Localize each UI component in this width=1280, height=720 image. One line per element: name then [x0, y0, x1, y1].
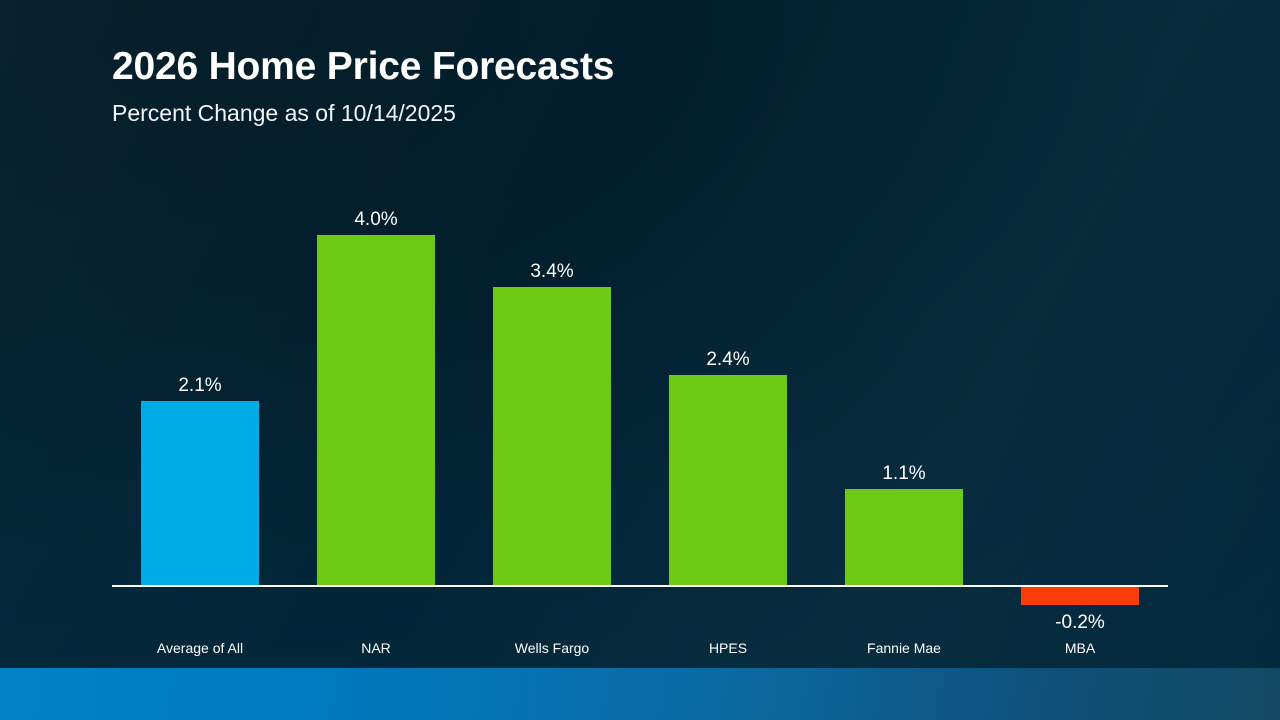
bar-category-label: MBA [992, 639, 1168, 658]
bar-group: 3.4%Wells Fargo [464, 0, 640, 668]
bar[interactable] [669, 375, 787, 585]
bar[interactable] [493, 287, 611, 585]
bar[interactable] [317, 235, 435, 585]
bar-group: 2.1%Average of All [112, 0, 288, 668]
bar-category-label: Fannie Mae [816, 639, 992, 658]
bar-group: -0.2%MBA [992, 0, 1168, 668]
bar[interactable] [1021, 587, 1139, 605]
bar-value-label: -0.2% [992, 611, 1168, 634]
slide-footer-brand-bar [0, 668, 1280, 720]
bar-group: 2.4%HPES [640, 0, 816, 668]
bar-group: 4.0%NAR [288, 0, 464, 668]
slide-canvas: 2026 Home Price Forecasts Percent Change… [0, 0, 1280, 720]
bar-category-label: Wells Fargo [464, 639, 640, 658]
bar-chart-plot-area: 2.1%Average of All4.0%NAR3.4%Wells Fargo… [0, 0, 1280, 668]
bar-value-label: 1.1% [816, 462, 992, 485]
bar[interactable] [141, 401, 259, 585]
bar-value-label: 4.0% [288, 208, 464, 231]
bar-category-label: NAR [288, 639, 464, 658]
bar-category-label: Average of All [112, 639, 288, 658]
bar[interactable] [845, 489, 963, 585]
bar-category-label: HPES [640, 639, 816, 658]
bar-value-label: 3.4% [464, 260, 640, 283]
bar-value-label: 2.4% [640, 348, 816, 371]
bar-value-label: 2.1% [112, 374, 288, 397]
bar-group: 1.1%Fannie Mae [816, 0, 992, 668]
